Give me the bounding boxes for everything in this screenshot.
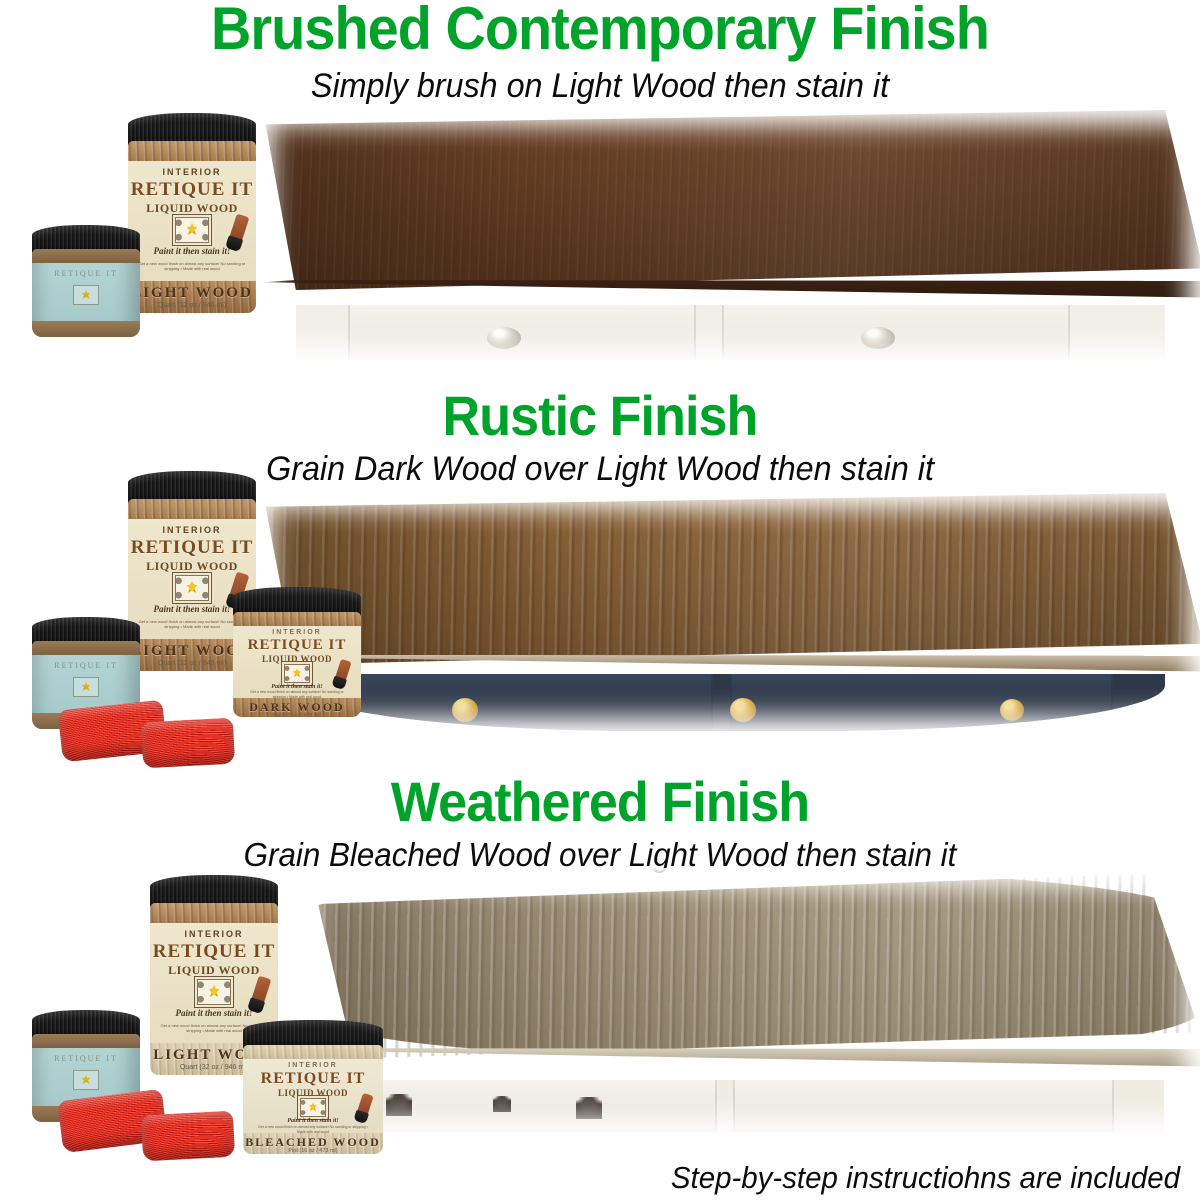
wood-graining-rocker-tool: [141, 718, 235, 769]
drawer-face: [331, 674, 714, 731]
paintbrush-illustration-icon: [252, 976, 272, 1003]
furniture-photo-weathered: [300, 870, 1200, 1132]
label-brand-text: RETIQUE IT: [150, 941, 278, 963]
drawer-face: [722, 305, 1070, 360]
label-interior-text: INTERIOR: [150, 929, 278, 939]
fleur-de-lis-crest-icon: [175, 575, 209, 601]
fleur-de-lis-crest-icon: [284, 664, 310, 683]
jar-bottom-band: [32, 321, 140, 337]
section-heading: Weathered Finish: [42, 773, 1158, 831]
fleur-de-lis-crest-icon: [73, 285, 99, 305]
table-top-edge: [305, 1048, 1200, 1072]
finish-section-rustic: Rustic Finish Grain Dark Wood over Light…: [0, 375, 1200, 765]
section-subheading: Grain Bleached Wood over Light Wood then…: [30, 837, 1170, 872]
ornate-drawer-pull-icon: [493, 1096, 511, 1112]
crest-scrollwork: [176, 218, 208, 242]
rocker-ridges: [141, 718, 235, 769]
label-variant-text: LIGHT WOOD: [128, 285, 256, 302]
wood-grain-texture: [300, 870, 1200, 1059]
jar-top-band: [32, 1034, 140, 1048]
fleur-de-lis-crest-icon: [175, 217, 209, 243]
drawer-face: [730, 674, 1113, 731]
brass-knob-icon: [1000, 699, 1024, 721]
label-interior-text: INTERIOR: [128, 167, 256, 177]
ornate-drawer-pull-icon: [386, 1094, 412, 1116]
variant-band: BLEACHED WOOD Pint (16 oz / 473 ml): [243, 1133, 383, 1154]
crest-scrollwork: [176, 576, 208, 600]
table-top-surface: [258, 493, 1200, 664]
brushed-nickel-knob-icon: [487, 327, 521, 349]
variant-band: LIGHT WOOD Quart (32 oz / 946 ml): [128, 281, 256, 313]
furniture-photo-brushed-contemporary: [258, 110, 1200, 360]
fleur-de-lis-crest-icon: [73, 1070, 99, 1090]
small-jar-brand-text: RETIQUE IT: [32, 1054, 140, 1063]
drawer-row: [296, 674, 1165, 731]
drawer-row: [336, 1080, 1164, 1132]
label-interior-text: INTERIOR: [233, 629, 361, 636]
fleur-de-lis-crest-icon: [197, 979, 231, 1005]
brass-knob-icon: [452, 698, 478, 722]
fleur-de-lis-crest-icon: [300, 1098, 326, 1117]
jar-label: INTERIOR RETIQUE IT LIQUID WOOD Paint it…: [233, 626, 361, 698]
product-jar-light-wood: INTERIOR RETIQUE IT LIQUID WOOD Paint it…: [128, 113, 256, 313]
label-interior-text: INTERIOR: [243, 1062, 383, 1069]
jar-body: INTERIOR RETIQUE IT LIQUID WOOD Paint it…: [233, 612, 361, 717]
wood-graining-rocker-tool: [141, 1111, 235, 1162]
drawer-row: [296, 305, 1165, 360]
product-comparison-poster: Brushed Contemporary Finish Simply brush…: [0, 0, 1200, 1200]
label-brand-text: RETIQUE IT: [128, 537, 256, 559]
variant-band: DARK WOOD Pint (16 oz / 473 ml): [233, 698, 361, 717]
jar-label: INTERIOR RETIQUE IT LIQUID WOOD Paint it…: [128, 161, 256, 289]
table-top-edge: [263, 280, 1200, 303]
label-brand-text: RETIQUE IT: [243, 1070, 383, 1088]
jar-top-band: [32, 641, 140, 655]
crest-scrollwork: [285, 665, 309, 682]
drawer-face: [348, 305, 696, 360]
jar-body: INTERIOR RETIQUE IT LIQUID WOOD Paint it…: [128, 141, 256, 313]
label-size-text: Pint (16 oz / 473 ml): [243, 1148, 383, 1154]
wood-grain-texture: [258, 110, 1200, 290]
section-heading: Rustic Finish: [42, 387, 1158, 445]
finish-section-weathered: Weathered Finish Grain Bleached Wood ove…: [0, 765, 1200, 1200]
paintbrush-illustration-icon: [230, 214, 250, 241]
section-subheading: Simply brush on Light Wood then stain it: [30, 68, 1170, 104]
small-jar-brand-text: RETIQUE IT: [32, 661, 140, 670]
fleur-de-lis-crest-icon: [73, 677, 99, 697]
product-jar-bleached-wood: INTERIOR RETIQUE IT LIQUID WOOD Paint it…: [243, 1020, 383, 1154]
small-jar-brand-text: RETIQUE IT: [32, 269, 140, 278]
jar-top-band: [32, 249, 140, 263]
jar-body: INTERIOR RETIQUE IT LIQUID WOOD Paint it…: [243, 1045, 383, 1154]
product-jar-dark-wood: INTERIOR RETIQUE IT LIQUID WOOD Paint it…: [233, 587, 361, 717]
rocker-ridges: [141, 1111, 235, 1162]
drawer-face: [733, 1080, 1114, 1132]
jar-body: RETIQUE IT: [32, 249, 140, 337]
table-top-surface: [300, 870, 1200, 1059]
label-size-text: Quart (32 oz / 946 ml): [128, 302, 256, 309]
crest-scrollwork: [301, 1099, 325, 1116]
finish-section-brushed-contemporary: Brushed Contemporary Finish Simply brush…: [0, 0, 1200, 375]
label-interior-text: INTERIOR: [128, 525, 256, 535]
section-heading: Brushed Contemporary Finish: [42, 0, 1158, 60]
jar-label: INTERIOR RETIQUE IT LIQUID WOOD Paint it…: [243, 1059, 383, 1133]
label-size-text: Pint (16 oz / 473 ml): [233, 713, 361, 717]
footer-note: Step-by-step instructiohns are included: [59, 1160, 1180, 1196]
product-jar-stain-small: RETIQUE IT: [32, 225, 140, 337]
label-brand-text: RETIQUE IT: [233, 637, 361, 654]
brushed-nickel-knob-icon: [861, 327, 895, 349]
table-top-surface: [258, 110, 1200, 290]
wood-grain-texture: [258, 493, 1200, 664]
crest-scrollwork: [198, 980, 230, 1004]
furniture-photo-rustic: [258, 493, 1200, 731]
ornate-drawer-pull-icon: [576, 1097, 602, 1119]
label-brand-text: RETIQUE IT: [128, 179, 256, 201]
label-fine-print-text: Get a new wood finish on almost any surf…: [128, 261, 256, 271]
